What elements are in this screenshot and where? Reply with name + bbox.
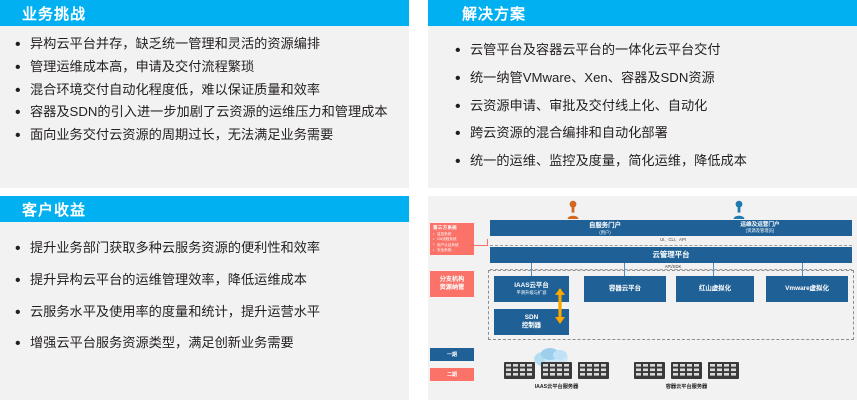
platform-box-hongshan[interactable]: 红山虚拟化	[676, 276, 754, 302]
cloud-management-platform-box[interactable]: 云管理平台	[490, 247, 852, 263]
third-party-title: 第三方系统	[433, 225, 471, 231]
portal-self-service-subtitle: (用户)	[550, 230, 660, 235]
branch-resource-line2: 资源纳管	[440, 284, 465, 292]
admin-person-icon	[732, 200, 746, 220]
server-rack-iaas-group	[504, 362, 609, 385]
platform-box-iaas-subtitle: 平滑升级与扩容	[516, 290, 546, 295]
list-item: 云服务水平及使用率的度量和统计，提升运营水平	[10, 302, 395, 322]
legend-phase-one-label: 一期	[447, 351, 457, 358]
portal-self-service-title: 自服务门户	[550, 222, 660, 230]
third-party-systems-box: 第三方系统 监控系统 OA流程系统 用户认证系统 安全系统…	[430, 223, 474, 255]
panel-body-business-challenge: 异构云平台并存，缺乏统一管理和灵活的资源编排 管理运维成本高，申请及交付流程繁琐…	[0, 26, 409, 154]
panel-title-business-challenge: 业务挑战	[0, 3, 86, 24]
list-item: 面向业务交付云资源的周期过长，无法满足业务需要	[10, 125, 395, 145]
panel-header-customer-benefit: 客户收益	[0, 196, 409, 222]
interface-label-mid: API/SDK	[633, 264, 713, 269]
branch-resource-box: 分支机构 资源纳管	[430, 271, 474, 297]
list-item: 异构云平台并存，缺乏统一管理和灵活的资源编排	[10, 34, 395, 54]
panel-header-business-challenge: 业务挑战	[0, 0, 409, 26]
panel-business-challenge: 业务挑战 异构云平台并存，缺乏统一管理和灵活的资源编排 管理运维成本高，申请及交…	[0, 0, 409, 188]
legend-phase-two-label: 二期	[447, 371, 457, 378]
platform-box-vmware[interactable]: Vmware虚拟化	[766, 276, 848, 302]
third-party-list: 监控系统 OA流程系统 用户认证系统 安全系统…	[433, 232, 471, 254]
panel-title-customer-benefit: 客户收益	[0, 199, 86, 220]
server-label-iaas: IAAS云平台服务器	[504, 383, 609, 390]
panel-body-solution: 云管平台及容器云平台的一体化云平台交付 统一纳管VMware、Xen、容器及SD…	[428, 26, 857, 185]
solution-bullet-list: 云管平台及容器云平台的一体化云平台交付 统一纳管VMware、Xen、容器及SD…	[450, 40, 843, 171]
branch-resource-line1: 分支机构	[440, 276, 465, 284]
list-item: 云管平台及容器云平台的一体化云平台交付	[450, 40, 843, 60]
platform-box-vmware-title: Vmware虚拟化	[785, 285, 829, 293]
portal-operations[interactable]: 运维及运营门户 (资源及管理员)	[695, 222, 825, 234]
list-item: 安全系统…	[433, 248, 471, 253]
list-item: 云资源申请、审批及交付线上化、自动化	[450, 96, 843, 116]
portal-operations-subtitle: (资源及管理员)	[695, 228, 825, 233]
panel-solution: 解决方案 云管平台及容器云平台的一体化云平台交付 统一纳管VMware、Xen、…	[428, 0, 857, 188]
panel-customer-benefit: 客户收益 提升业务部门获取多种云服务资源的便利性和效率 提升异构云平台的运维管理…	[0, 196, 409, 400]
list-item: 容器及SDN的引入进一步加剧了云资源的运维压力和管理成本	[10, 102, 395, 122]
platform-box-sdn-line2: 控制器	[522, 322, 541, 330]
list-item: 跨云资源的混合编排和自动化部署	[450, 123, 843, 143]
arrow-down-icon	[554, 302, 566, 329]
slide-canvas: 业务挑战 异构云平台并存，缺乏统一管理和灵活的资源编排 管理运维成本高，申请及交…	[0, 0, 857, 400]
challenge-bullet-list: 异构云平台并存，缺乏统一管理和灵活的资源编排 管理运维成本高，申请及交付流程繁琐…	[10, 34, 395, 145]
user-person-icon	[566, 200, 580, 220]
server-label-container: 容器云平台服务器	[634, 383, 739, 390]
platform-box-container-title: 容器云平台	[609, 285, 641, 293]
list-item: 混合环境交付自动化程度低，难以保证质量和效率	[10, 80, 395, 100]
list-item: 统一的运维、监控及度量，简化运维，降低成本	[450, 151, 843, 171]
interface-divider-top	[490, 245, 852, 246]
panel-title-solution: 解决方案	[428, 3, 526, 24]
portal-bar: 自服务门户 (用户) 运维及运营门户 (资源及管理员)	[490, 220, 852, 236]
panel-body-customer-benefit: 提升业务部门获取多种云服务资源的便利性和效率 提升异构云平台的运维管理效率，降低…	[0, 222, 409, 371]
list-item: 统一纳管VMware、Xen、容器及SDN资源	[450, 68, 843, 88]
legend-phase-one: 一期	[430, 348, 474, 361]
panel-header-solution: 解决方案	[428, 0, 857, 26]
legend-phase-two: 二期	[430, 368, 474, 381]
list-item: 提升异构云平台的运维管理效率，降低运维成本	[10, 270, 395, 290]
interface-label-top: UI、CLI、API	[623, 237, 723, 243]
list-item: 提升业务部门获取多种云服务资源的便利性和效率	[10, 238, 395, 258]
benefit-bullet-list: 提升业务部门获取多种云服务资源的便利性和效率 提升异构云平台的运维管理效率，降低…	[10, 238, 395, 353]
list-item: 增强云平台服务资源类型，满足创新业务需要	[10, 333, 395, 353]
list-item: 管理运维成本高，申请及交付流程繁琐	[10, 57, 395, 77]
platform-box-sdn-line1: SDN	[525, 314, 539, 322]
cloud-management-platform-title: 云管理平台	[653, 250, 690, 259]
platform-box-container[interactable]: 容器云平台	[584, 276, 666, 302]
architecture-diagram: 第三方系统 监控系统 OA流程系统 用户认证系统 安全系统… 自服务门户 (用户…	[428, 196, 857, 400]
platform-box-hongshan-title: 红山虚拟化	[699, 285, 731, 293]
third-party-connector-vertical	[487, 239, 488, 246]
server-rack-container-group	[634, 362, 739, 385]
portal-self-service[interactable]: 自服务门户 (用户)	[550, 222, 660, 235]
